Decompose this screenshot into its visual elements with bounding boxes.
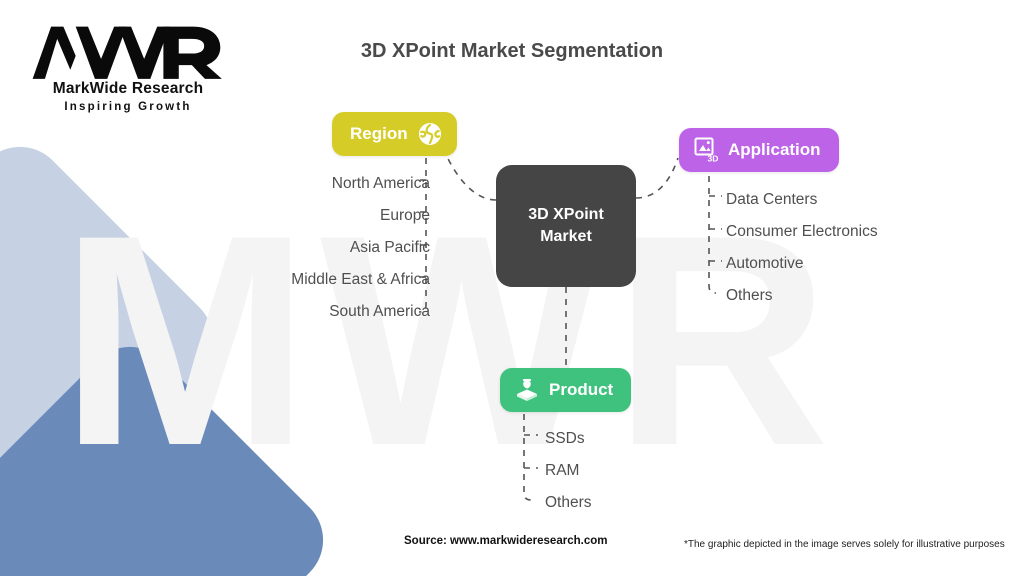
list-item: Others <box>726 280 1006 312</box>
leaf-list-region: North America Europe Asia Pacific Middle… <box>180 168 430 328</box>
leaf-list-application: Data Centers Consumer Electronics Automo… <box>726 184 1006 312</box>
list-item: Automotive <box>726 248 1006 280</box>
brand-tagline: Inspiring Growth <box>28 101 228 113</box>
list-item: North America <box>180 168 430 200</box>
product-stack-icon <box>514 377 540 403</box>
center-node-line1: 3D XPoint <box>528 206 604 223</box>
list-item: Europe <box>180 200 430 232</box>
disclaimer-note: *The graphic depicted in the image serve… <box>684 539 1005 550</box>
brand-logo: MarkWide Research Inspiring Growth <box>28 22 228 113</box>
list-item: Middle East & Africa <box>180 264 430 296</box>
branch-label-application: Application <box>728 140 821 160</box>
list-item: SSDs <box>545 423 745 455</box>
branch-node-product[interactable]: Product <box>500 368 631 412</box>
center-node: 3D XPoint Market <box>496 165 636 287</box>
list-item: Data Centers <box>726 184 1006 216</box>
page-title: 3D XPoint Market Segmentation <box>0 40 1024 63</box>
leaf-list-product: SSDs RAM Others <box>545 423 745 519</box>
branch-node-application[interactable]: 3D Application <box>679 128 839 172</box>
brand-name: MarkWide Research <box>28 80 228 98</box>
source-note: Source: www.markwideresearch.com <box>404 535 607 547</box>
image-3d-icon: 3D <box>693 137 719 163</box>
branch-label-product: Product <box>549 380 613 400</box>
center-node-line2: Market <box>540 228 592 245</box>
branch-node-region[interactable]: Region <box>332 112 457 156</box>
globe-icon <box>417 121 443 147</box>
list-item: RAM <box>545 455 745 487</box>
list-item: Others <box>545 487 745 519</box>
list-item: South America <box>180 296 430 328</box>
list-item: Asia Pacific <box>180 232 430 264</box>
list-item: Consumer Electronics <box>726 216 1006 248</box>
branch-label-region: Region <box>350 124 408 144</box>
svg-text:3D: 3D <box>708 154 719 164</box>
